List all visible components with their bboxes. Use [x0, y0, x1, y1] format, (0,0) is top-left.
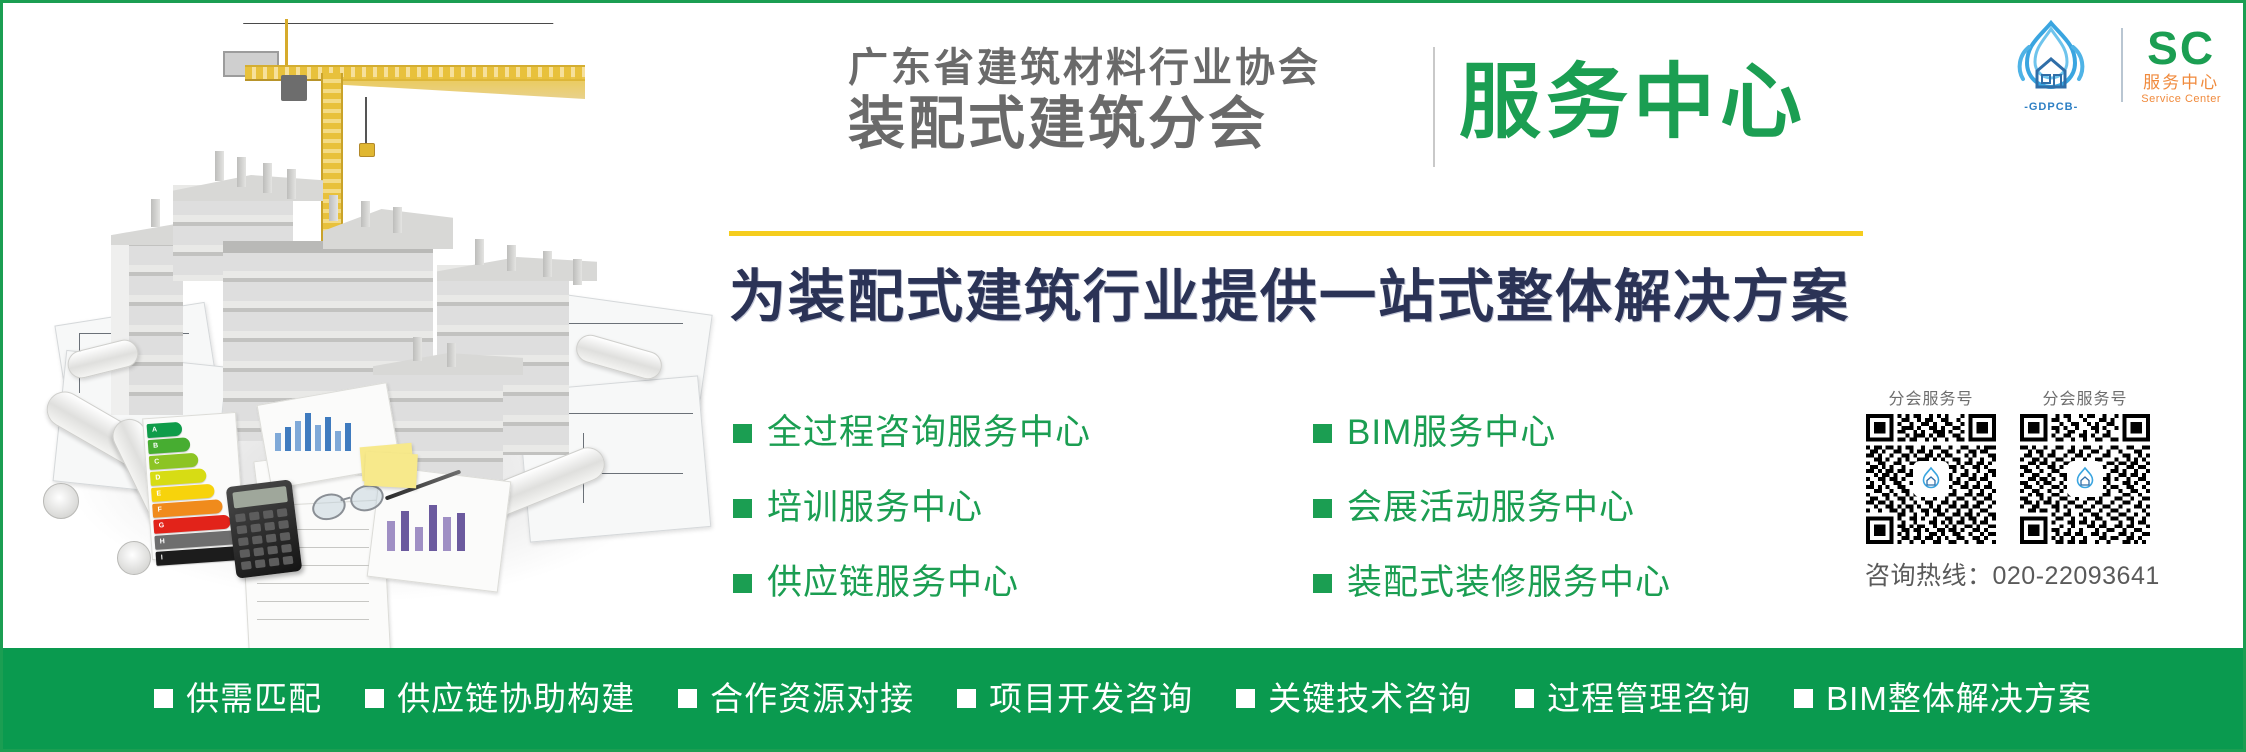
- bullet-square-icon: [1794, 689, 1813, 708]
- sc-english-label: Service Center: [2141, 93, 2221, 106]
- sc-logo: SC 服务中心 Service Center: [2141, 25, 2221, 106]
- bullet-square-icon: [733, 499, 752, 518]
- service-label: 全过程咨询服务中心: [767, 413, 1091, 453]
- calculator-key: [281, 544, 292, 553]
- building-column: [447, 343, 456, 367]
- list-item: 装配式装修服务中心: [1313, 563, 1671, 603]
- bottom-tag-bar: 供需匹配 供应链协助构建 合作资源对接 项目开发咨询 关键技术咨询 过程管理咨询…: [3, 648, 2243, 749]
- bar: [443, 517, 451, 551]
- sc-initials: SC: [2147, 25, 2215, 71]
- qr-code-image[interactable]: [2019, 414, 2151, 544]
- energy-row-b: B: [148, 437, 191, 454]
- building-column: [151, 199, 160, 227]
- calculator-key: [235, 513, 246, 522]
- list-item: 全过程咨询服务中心: [733, 413, 1091, 453]
- service-label: BIM服务中心: [1347, 413, 1556, 453]
- service-label: 培训服务中心: [767, 488, 983, 528]
- bottom-tag: 供需匹配: [154, 680, 322, 718]
- logo-divider: [2121, 28, 2123, 102]
- logo-caption: -GDPCB-: [1999, 101, 2103, 113]
- calculator-key: [250, 523, 261, 532]
- qr-center-logo-icon: [2069, 463, 2101, 495]
- calculator-key: [236, 525, 247, 534]
- rolled-drawing-end: [43, 483, 79, 519]
- list-item: 供应链服务中心: [733, 563, 1091, 603]
- bottom-tag-label: 供应链协助构建: [397, 680, 635, 718]
- bar: [387, 521, 395, 551]
- qr-code-block: 分会服务号: [1865, 385, 2175, 592]
- bullet-square-icon: [154, 689, 173, 708]
- service-label: 装配式装修服务中心: [1347, 563, 1671, 603]
- list-item: 会展活动服务中心: [1313, 488, 1671, 528]
- service-list-left: 全过程咨询服务中心 培训服务中心 供应链服务中心: [733, 413, 1091, 638]
- form-line: [257, 583, 369, 584]
- bottom-tag-label: 供需匹配: [186, 680, 322, 718]
- bottom-tag: 供应链协助构建: [365, 680, 635, 718]
- bullet-square-icon: [1313, 499, 1332, 518]
- service-label: 会展活动服务中心: [1347, 488, 1635, 528]
- association-name-line2: 装配式建筑分会: [848, 93, 1408, 155]
- bar: [295, 421, 301, 451]
- bar: [429, 505, 437, 551]
- calculator-key: [255, 559, 266, 568]
- bullet-square-icon: [1515, 689, 1534, 708]
- qr-code-image[interactable]: [1865, 414, 1997, 544]
- calculator-key: [278, 520, 289, 529]
- main-slogan: 为装配式建筑行业提供一站式整体解决方案: [729, 265, 1850, 329]
- bottom-tag-label: BIM整体解决方案: [1826, 680, 2092, 718]
- bar: [325, 417, 331, 451]
- calculator-key: [266, 534, 277, 543]
- calculator-key: [253, 547, 264, 556]
- header-divider: [1433, 47, 1435, 167]
- calculator-key: [263, 510, 274, 519]
- rolled-drawing-end: [117, 541, 151, 575]
- calculator-key: [252, 535, 263, 544]
- organization-logo: -GDPCB- SC 服务中心 Service Center: [1999, 17, 2221, 113]
- blueprint-line: [563, 413, 693, 414]
- blueprint-line: [563, 323, 683, 324]
- energy-row-c: C: [149, 453, 199, 470]
- qr-code-service-account-1: 分会服务号: [1865, 385, 1997, 544]
- calculator-key: [241, 561, 252, 570]
- crane-jib-truss-icon: [341, 77, 585, 99]
- bullet-square-icon: [733, 424, 752, 443]
- crane-apex-icon: [285, 19, 288, 67]
- bullet-square-icon: [733, 574, 752, 593]
- qr-code-row: 分会服务号: [1865, 385, 2175, 544]
- bottom-tag: BIM整体解决方案: [1794, 680, 2092, 718]
- qr-caption: 分会服务号: [2019, 385, 2151, 409]
- calculator-icon: [226, 479, 303, 578]
- bullet-square-icon: [957, 689, 976, 708]
- bottom-tag-label: 合作资源对接: [710, 680, 914, 718]
- bottom-tag-label: 过程管理咨询: [1547, 680, 1751, 718]
- gdpcb-flame-house-icon: -GDPCB-: [1999, 19, 2103, 111]
- service-center-title: 服务中心: [1459, 55, 1807, 151]
- service-list-right: BIM服务中心 会展活动服务中心 装配式装修服务中心: [1313, 413, 1671, 638]
- sticky-note: [364, 452, 418, 489]
- list-item: BIM服务中心: [1313, 413, 1671, 453]
- bullet-square-icon: [1236, 689, 1255, 708]
- calculator-key: [283, 556, 294, 565]
- building-column: [475, 239, 484, 265]
- bar: [305, 413, 311, 451]
- building-column: [361, 201, 370, 227]
- bar: [335, 431, 341, 451]
- building-column: [287, 169, 296, 199]
- building-column: [413, 337, 422, 361]
- bottom-tag-label: 关键技术咨询: [1268, 680, 1472, 718]
- association-name-line1: 广东省建筑材料行业协会: [848, 45, 1408, 91]
- qr-caption: 分会服务号: [1865, 385, 1997, 409]
- bottom-tag: 项目开发咨询: [957, 680, 1193, 718]
- crane-shadow-cable-2: [274, 23, 553, 68]
- calculator-key: [280, 532, 291, 541]
- form-line: [257, 619, 369, 620]
- hotline-text: 咨询热线：020-22093641: [1865, 556, 2175, 592]
- sc-chinese-label: 服务中心: [2143, 73, 2219, 93]
- calculator-key: [277, 508, 288, 517]
- bar: [315, 425, 321, 451]
- form-line: [257, 601, 369, 602]
- crane-hook-block-icon: [359, 143, 375, 157]
- bottom-tag-label: 项目开发咨询: [989, 680, 1193, 718]
- bullet-square-icon: [1313, 574, 1332, 593]
- energy-row-a: A: [147, 422, 183, 438]
- building-column: [215, 151, 224, 181]
- building-column: [237, 157, 246, 187]
- building-column: [263, 163, 272, 193]
- calculator-key: [264, 522, 275, 531]
- crane-cab-icon: [281, 75, 307, 101]
- bullet-square-icon: [1313, 424, 1332, 443]
- calculator-key: [269, 557, 280, 566]
- qr-code-service-account-2: 分会服务号: [2019, 385, 2151, 544]
- bar: [401, 511, 409, 551]
- crane-hook-line-icon: [365, 97, 367, 145]
- bar: [285, 427, 291, 451]
- building-column: [573, 259, 582, 285]
- promotional-banner: A B C D E F G H I: [0, 0, 2246, 752]
- bottom-tag: 过程管理咨询: [1515, 680, 1751, 718]
- construction-site-3d-illustration: A B C D E F G H I: [23, 13, 703, 638]
- bar: [275, 433, 281, 451]
- calculator-key: [238, 537, 249, 546]
- association-name: 广东省建筑材料行业协会 装配式建筑分会: [848, 45, 1408, 155]
- calculator-screen: [232, 486, 288, 508]
- building-roof: [173, 175, 323, 201]
- qr-center-logo-icon: [1915, 463, 1947, 495]
- building-column: [507, 245, 516, 271]
- building-column: [543, 251, 552, 277]
- bar: [415, 527, 423, 551]
- yellow-divider-line: [729, 231, 1863, 236]
- building-facade: [111, 235, 129, 415]
- building-column: [329, 195, 338, 221]
- calculator-key: [239, 549, 250, 558]
- service-label: 供应链服务中心: [767, 563, 1019, 603]
- bullet-square-icon: [678, 689, 697, 708]
- list-item: 培训服务中心: [733, 488, 1091, 528]
- calculator-key: [249, 511, 260, 520]
- bottom-tag: 关键技术咨询: [1236, 680, 1472, 718]
- bottom-tag: 合作资源对接: [678, 680, 914, 718]
- energy-row-d: D: [150, 468, 207, 486]
- building-column: [393, 207, 402, 233]
- bullet-square-icon: [365, 689, 384, 708]
- bar: [345, 423, 351, 451]
- bar: [457, 513, 465, 551]
- calculator-key: [267, 546, 278, 555]
